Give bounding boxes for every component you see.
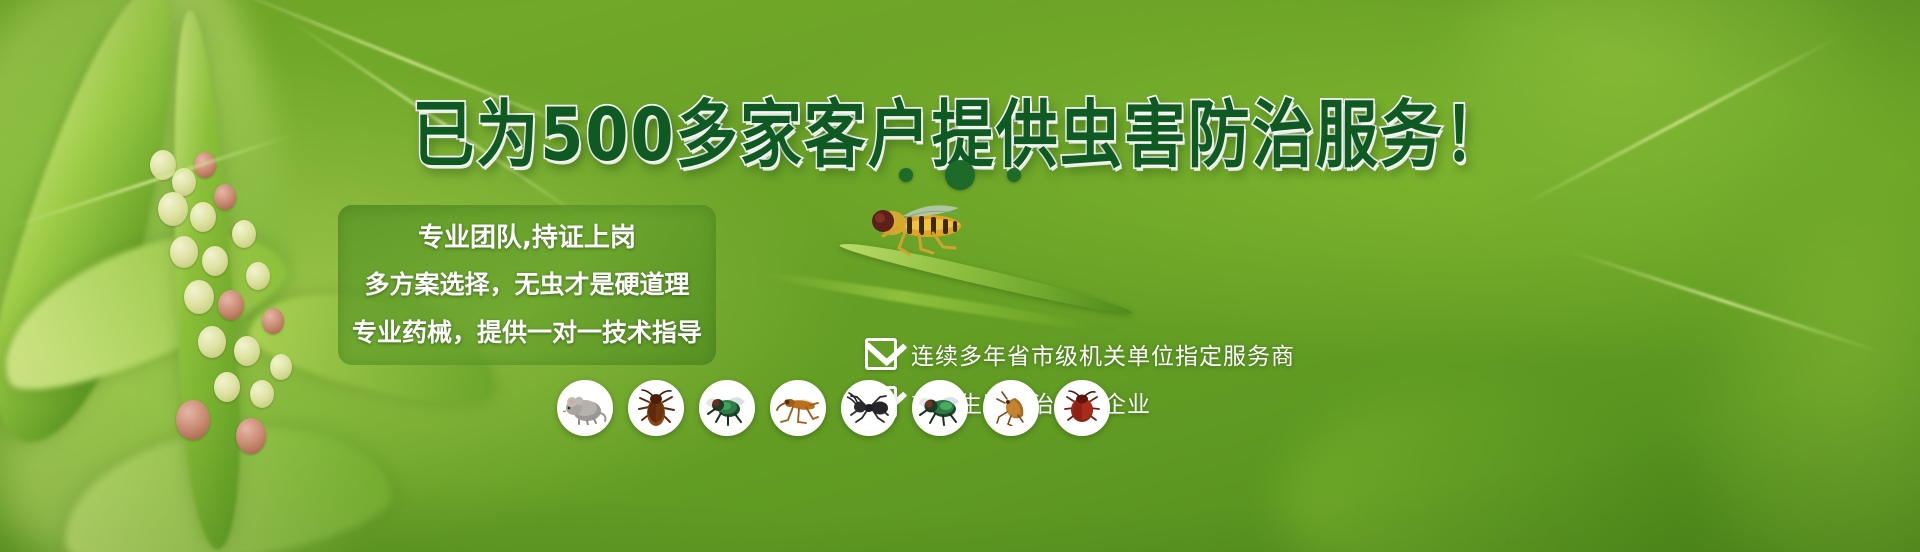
pest-icon-flea[interactable] bbox=[983, 380, 1039, 436]
background-blade bbox=[1280, 380, 1700, 552]
flea-icon bbox=[991, 390, 1031, 426]
decorative-dots bbox=[0, 160, 1920, 190]
blowfly-icon bbox=[918, 390, 962, 426]
pest-icon-blowfly[interactable] bbox=[912, 380, 968, 436]
bedbug-icon bbox=[1062, 390, 1102, 426]
slogan-line-2: 多方案选择，无虫才是硬道理 bbox=[364, 265, 689, 301]
dot-small-right-icon bbox=[1007, 168, 1021, 182]
pest-type-row bbox=[557, 380, 1110, 436]
slogan-line-3: 专业药械，提供一对一技术指导 bbox=[352, 313, 702, 349]
pest-icon-cockroach[interactable] bbox=[628, 380, 684, 436]
cockroach-icon bbox=[635, 388, 677, 428]
pest-control-banner: 已为500多家客户提供虫害防治服务！ 专业团队,持证上岗 多方案选择，无虫才是硬… bbox=[0, 0, 1920, 552]
pest-icon-mosquito[interactable] bbox=[770, 380, 826, 436]
mosquito-icon bbox=[776, 390, 820, 426]
hoverfly-icon bbox=[845, 196, 965, 258]
slogan-text-group: 专业团队,持证上岗 多方案选择，无虫才是硬道理 专业药械，提供一对一技术指导 bbox=[330, 205, 724, 365]
background-blade bbox=[1700, 180, 1920, 552]
checkbox-checked-icon bbox=[865, 338, 897, 370]
pest-icon-mouse[interactable] bbox=[557, 380, 613, 436]
checklist-item: 连续多年省市级机关单位指定服务商 bbox=[865, 330, 1295, 378]
checklist-item-label: 连续多年省市级机关单位指定服务商 bbox=[911, 337, 1295, 371]
slogan-line-1: 专业团队,持证上岗 bbox=[418, 217, 636, 254]
mouse-icon bbox=[563, 391, 607, 425]
ant-icon bbox=[847, 391, 891, 425]
pest-icon-ant[interactable] bbox=[841, 380, 897, 436]
pest-icon-bedbug[interactable] bbox=[1054, 380, 1110, 436]
fly-icon bbox=[705, 390, 749, 426]
pest-icon-fly[interactable] bbox=[699, 380, 755, 436]
dot-large-center-icon bbox=[945, 160, 975, 190]
dot-small-left-icon bbox=[899, 168, 913, 182]
